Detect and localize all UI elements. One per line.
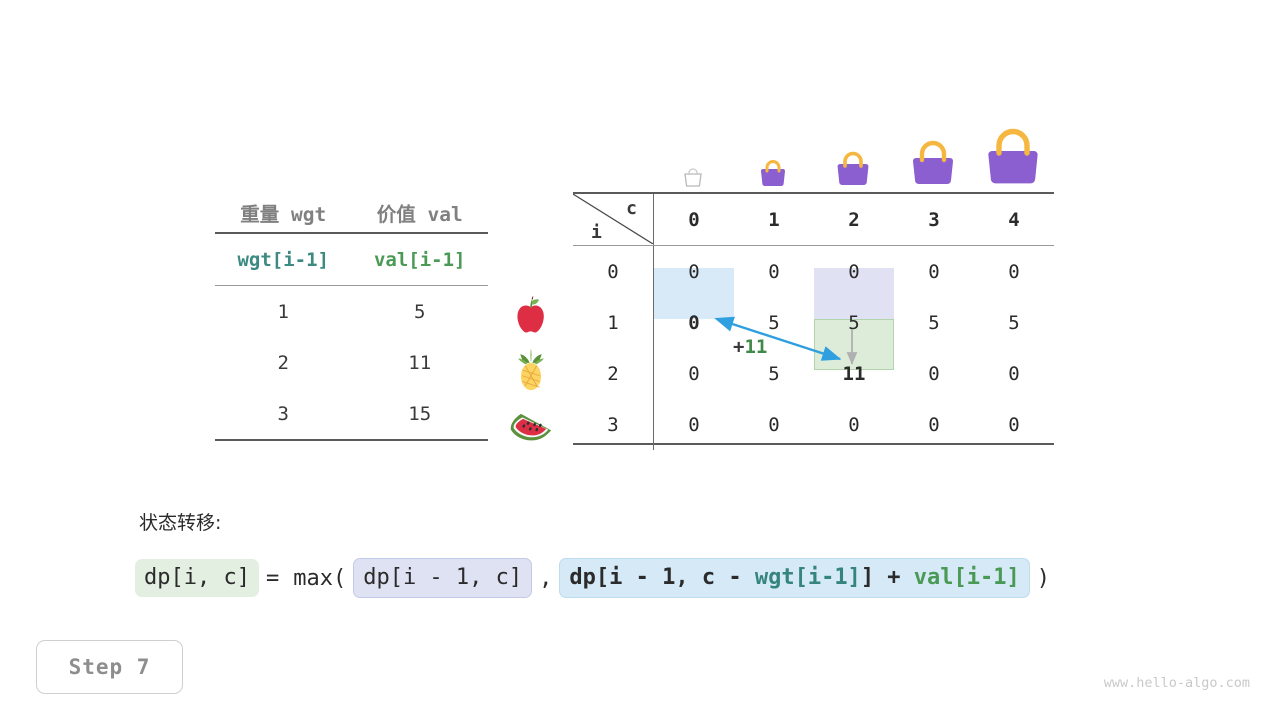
formula-arg2-mid: ] +	[861, 565, 914, 590]
dp-table: c i 0 1 2 3 4 0 0	[573, 192, 1054, 445]
plus-value: 11	[744, 336, 767, 358]
dp-col-header-4: 4	[974, 193, 1054, 246]
plus-sign: +	[733, 336, 744, 358]
table-row: 3 15	[215, 388, 488, 440]
formula-arg2: dp[i - 1, c - wgt[i-1]] + val[i-1]	[559, 558, 1029, 598]
subheader-val-expr: val[i-1]	[352, 233, 489, 286]
item-3-value: 15	[352, 388, 489, 440]
subheader-wgt-expr: wgt[i-1]	[215, 233, 352, 286]
item-weight-value-table: 重量 wgt 价值 val wgt[i-1] val[i-1] 1 5 2 11…	[215, 192, 488, 441]
dp-cell-3-3: 0	[894, 399, 974, 450]
bag-icon-capacity-3	[893, 126, 973, 188]
item-1-weight: 1	[215, 286, 352, 338]
dp-cell-3-0: 0	[654, 399, 735, 450]
formula-equals: =	[259, 566, 286, 591]
item-2-value: 11	[352, 337, 489, 388]
dp-col-header-3: 3	[894, 193, 974, 246]
dp-col-header-1: 1	[734, 193, 814, 246]
dp-row-header-2: 2	[573, 348, 654, 399]
formula-max-open: max(	[286, 566, 353, 591]
dp-cell-2-3: 0	[894, 348, 974, 399]
item-1-value: 5	[352, 286, 489, 338]
plus-value-annotation: +11	[733, 336, 767, 358]
apple-icon	[508, 296, 554, 342]
dp-cell-1-2: 5	[814, 297, 894, 348]
dp-cell-0-4: 0	[974, 246, 1054, 298]
dp-cell-0-2: 0	[814, 246, 894, 298]
dp-cell-3-1: 0	[734, 399, 814, 450]
dp-row-header-0: 0	[573, 246, 654, 298]
bag-capacity-icons	[653, 126, 1053, 188]
header-value: 价值 val	[352, 192, 489, 233]
pineapple-icon	[508, 347, 554, 393]
item-3-weight: 3	[215, 388, 352, 440]
dp-cell-1-0: 0	[654, 297, 735, 348]
dp-col-header-2: 2	[814, 193, 894, 246]
dp-cell-1-3: 5	[894, 297, 974, 348]
item-2-weight: 2	[215, 337, 352, 388]
table-row: 2 11	[215, 337, 488, 388]
table-row: 1 5	[215, 286, 488, 338]
formula-comma: ,	[532, 566, 559, 591]
dp-row-header-1: 1	[573, 297, 654, 348]
dp-cell-2-4: 0	[974, 348, 1054, 399]
bag-icon-capacity-4	[973, 126, 1053, 188]
formula-lhs: dp[i, c]	[135, 559, 259, 597]
dp-cell-0-0: 0	[654, 246, 735, 298]
dp-cell-0-3: 0	[894, 246, 974, 298]
dp-row-header-3: 3	[573, 399, 654, 450]
dp-cell-2-0: 0	[654, 348, 735, 399]
dp-column-header-row: c i 0 1 2 3 4	[573, 193, 1054, 246]
table-row: 3 0 0 0 0 0	[573, 399, 1054, 450]
formula-arg2-prefix: dp[i - 1, c -	[569, 565, 754, 590]
item-table-header-row: 重量 wgt 价值 val	[215, 192, 488, 233]
formula-max-close: )	[1030, 566, 1057, 591]
header-weight: 重量 wgt	[215, 192, 352, 233]
dp-grid: c i 0 1 2 3 4 0 0	[573, 192, 1054, 450]
formula-arg1: dp[i - 1, c]	[353, 558, 532, 598]
item-table-subheader-row: wgt[i-1] val[i-1]	[215, 233, 488, 286]
footer-watermark: www.hello-algo.com	[1104, 675, 1250, 691]
state-transition-caption: 状态转移:	[139, 508, 221, 535]
bag-icon-capacity-1	[733, 126, 813, 188]
step-badge: Step 7	[36, 640, 183, 694]
formula-arg2-wgt: wgt[i-1]	[755, 565, 861, 590]
bag-icon-capacity-0	[653, 126, 733, 188]
formula-arg2-val: val[i-1]	[914, 565, 1020, 590]
dp-cell-2-2: 11	[814, 348, 894, 399]
bag-icon-capacity-2	[813, 126, 893, 188]
dp-cell-3-4: 0	[974, 399, 1054, 450]
table-row: 0 0 0 0 0 0	[573, 246, 1054, 298]
table-row: 1 0 5 5 5 5	[573, 297, 1054, 348]
dp-corner-label-i: i	[591, 222, 602, 243]
watermelon-icon	[508, 398, 554, 444]
table-row: 2 0 5 11 0 0	[573, 348, 1054, 399]
dp-col-header-0: 0	[654, 193, 735, 246]
dp-cell-1-4: 5	[974, 297, 1054, 348]
dp-cell-0-1: 0	[734, 246, 814, 298]
state-transition-formula: dp[i, c] = max( dp[i - 1, c] , dp[i - 1,…	[135, 558, 1057, 598]
dp-corner-cell: c i	[573, 193, 654, 246]
slide-canvas: 重量 wgt 价值 val wgt[i-1] val[i-1] 1 5 2 11…	[0, 0, 1280, 720]
dp-cell-3-2: 0	[814, 399, 894, 450]
